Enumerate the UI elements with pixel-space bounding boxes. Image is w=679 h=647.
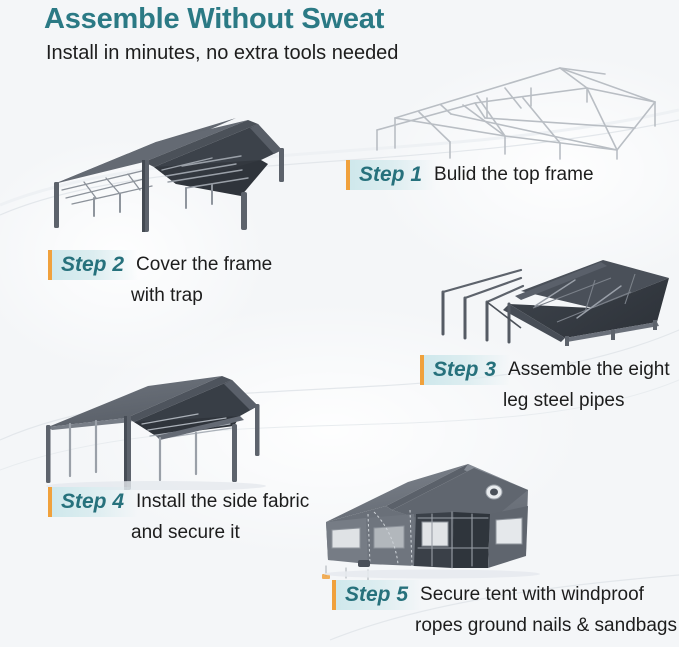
step-tag-1: Step 1 — [346, 160, 436, 190]
illustration-step-2 — [36, 112, 326, 237]
step-caption-1: Step 1 Bulid the top frame — [346, 160, 594, 190]
page-title: Assemble Without Sweat — [44, 0, 664, 38]
step-caption-3: Step 3 Assemble the eight leg steel pipe… — [420, 355, 670, 413]
step-text-1-line1: Bulid the top frame — [434, 160, 593, 187]
step-text-3-line2: leg steel pipes — [503, 388, 670, 413]
step-text-4-line1: Install the side fabric — [136, 487, 309, 514]
step-caption-5: Step 5 Secure tent with windproof ropes … — [332, 580, 677, 638]
illustration-step-5 — [312, 456, 572, 581]
step-text-2-line1: Cover the frame — [136, 250, 272, 277]
illustration-step-1 — [355, 58, 675, 163]
illustration-step-3 — [425, 256, 675, 356]
step-caption-2: Step 2 Cover the frame with trap — [48, 250, 272, 308]
step-tag-5: Step 5 — [332, 580, 422, 610]
infographic-page: Assemble Without Sweat Install in minute… — [0, 0, 679, 647]
step-text-4-line2: and secure it — [131, 520, 309, 545]
step-tag-4: Step 4 — [48, 487, 138, 517]
illustration-step-4 — [36, 372, 316, 490]
step-tag-3: Step 3 — [420, 355, 510, 385]
step-text-2-line2: with trap — [131, 283, 272, 308]
step-text-5-line2: ropes ground nails & sandbags — [415, 613, 677, 638]
step-caption-4: Step 4 Install the side fabric and secur… — [48, 487, 309, 545]
step-tag-2: Step 2 — [48, 250, 138, 280]
page-header: Assemble Without Sweat Install in minute… — [44, 0, 664, 66]
step-text-3-line1: Assemble the eight — [508, 355, 670, 382]
step-text-5-line1: Secure tent with windproof — [420, 580, 644, 607]
